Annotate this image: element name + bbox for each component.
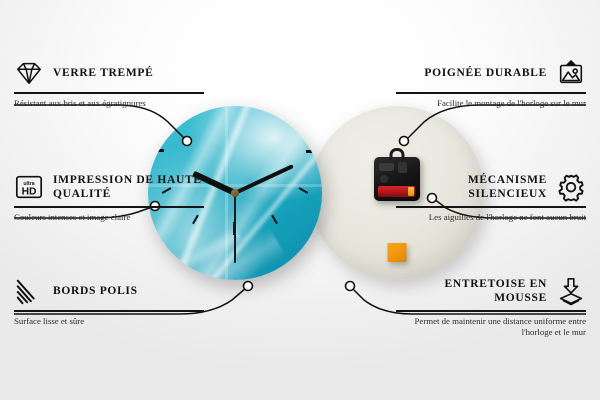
picture-hanger-icon	[556, 58, 586, 88]
feature-mecanisme-silencieux[interactable]: MÉCANISME SILENCIEUX Les aiguilles de l'…	[396, 172, 586, 223]
feature-verre-trempe[interactable]: VERRE TREMPÉ Résistant aux bris et aux é…	[14, 58, 204, 109]
feature-impression-hd[interactable]: ultra HD IMPRESSION DE HAUTE QUALITÉ Cou…	[14, 172, 204, 223]
feature-header: ENTRETOISE EN MOUSSE	[396, 276, 586, 306]
divider	[14, 92, 204, 94]
feature-header: POIGNÉE DURABLE	[396, 58, 586, 88]
feature-header: BORDS POLIS	[14, 276, 204, 306]
feature-header: VERRE TREMPÉ	[14, 58, 204, 88]
ultra-hd-icon: ultra HD	[14, 172, 44, 202]
polished-edges-icon	[14, 276, 44, 306]
diamond-icon	[14, 58, 44, 88]
feature-entretoise-mousse[interactable]: ENTRETOISE EN MOUSSE Permet de maintenir…	[396, 276, 586, 339]
feature-subtitle: Permet de maintenir une distance uniform…	[396, 316, 586, 340]
feature-title: VERRE TREMPÉ	[53, 66, 154, 80]
foam-spacer-pad	[388, 243, 407, 262]
divider	[396, 206, 586, 208]
hanger-hook-icon	[390, 148, 405, 160]
feature-header: MÉCANISME SILENCIEUX	[396, 172, 586, 202]
foam-spacer-icon	[556, 276, 586, 306]
divider	[14, 310, 204, 312]
divider	[396, 310, 586, 312]
feature-title: IMPRESSION DE HAUTE QUALITÉ	[53, 173, 204, 202]
feature-title: POIGNÉE DURABLE	[424, 66, 547, 80]
feature-subtitle: Surface lisse et sûre	[14, 316, 204, 328]
feature-subtitle: Les aiguilles de l'horloge ne font aucun…	[396, 212, 586, 224]
hand-center-cap	[231, 189, 239, 197]
feature-subtitle: Facilite le montage de l'horloge sur le …	[396, 98, 586, 110]
feature-title: MÉCANISME SILENCIEUX	[396, 173, 547, 202]
feature-header: ultra HD IMPRESSION DE HAUTE QUALITÉ	[14, 172, 204, 202]
infographic-stage: VERRE TREMPÉ Résistant aux bris et aux é…	[0, 0, 600, 400]
feature-subtitle: Résistant aux bris et aux égratignures	[14, 98, 204, 110]
feature-subtitle: Couleurs intenses et image claire	[14, 212, 204, 224]
divider	[14, 206, 204, 208]
divider	[396, 92, 586, 94]
feature-poignee-durable[interactable]: POIGNÉE DURABLE Facilite le montage de l…	[396, 58, 586, 109]
mechanism-detail	[380, 175, 388, 183]
feature-title: BORDS POLIS	[53, 284, 138, 298]
svg-text:HD: HD	[22, 187, 37, 198]
gear-icon	[556, 172, 586, 202]
mechanism-detail	[379, 163, 394, 171]
feature-bords-polis[interactable]: BORDS POLIS Surface lisse et sûre	[14, 276, 204, 327]
feature-title: ENTRETOISE EN MOUSSE	[396, 277, 547, 306]
second-hand	[234, 193, 236, 263]
